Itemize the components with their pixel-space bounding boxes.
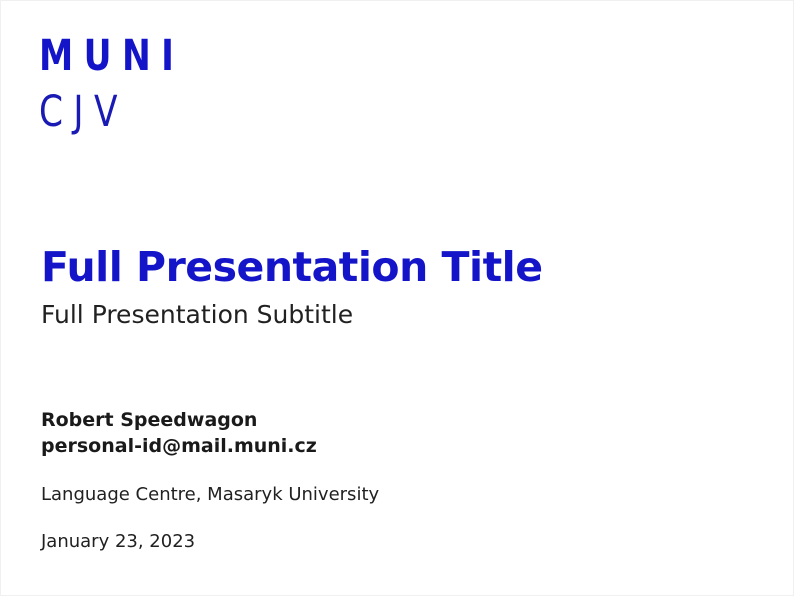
muni-wordmark: MUNI: [39, 33, 295, 79]
title-block: Full Presentation Title Full Presentatio…: [41, 243, 741, 331]
author-email: personal-id@mail.muni.cz: [41, 433, 741, 459]
title-slide: MUNI CJV Full Presentation Title Full Pr…: [0, 0, 794, 596]
cjv-unit-mark: CJV: [39, 89, 295, 135]
presentation-title: Full Presentation Title: [41, 243, 741, 291]
author-affiliation: Language Centre, Masaryk University: [41, 482, 741, 507]
author-name: Robert Speedwagon: [41, 407, 741, 433]
presenter-meta-block: Robert Speedwagon personal-id@mail.muni.…: [41, 407, 741, 554]
presentation-date: January 23, 2023: [41, 529, 741, 554]
muni-cjv-logo: MUNI CJV: [39, 33, 359, 135]
presentation-subtitle: Full Presentation Subtitle: [41, 299, 741, 331]
